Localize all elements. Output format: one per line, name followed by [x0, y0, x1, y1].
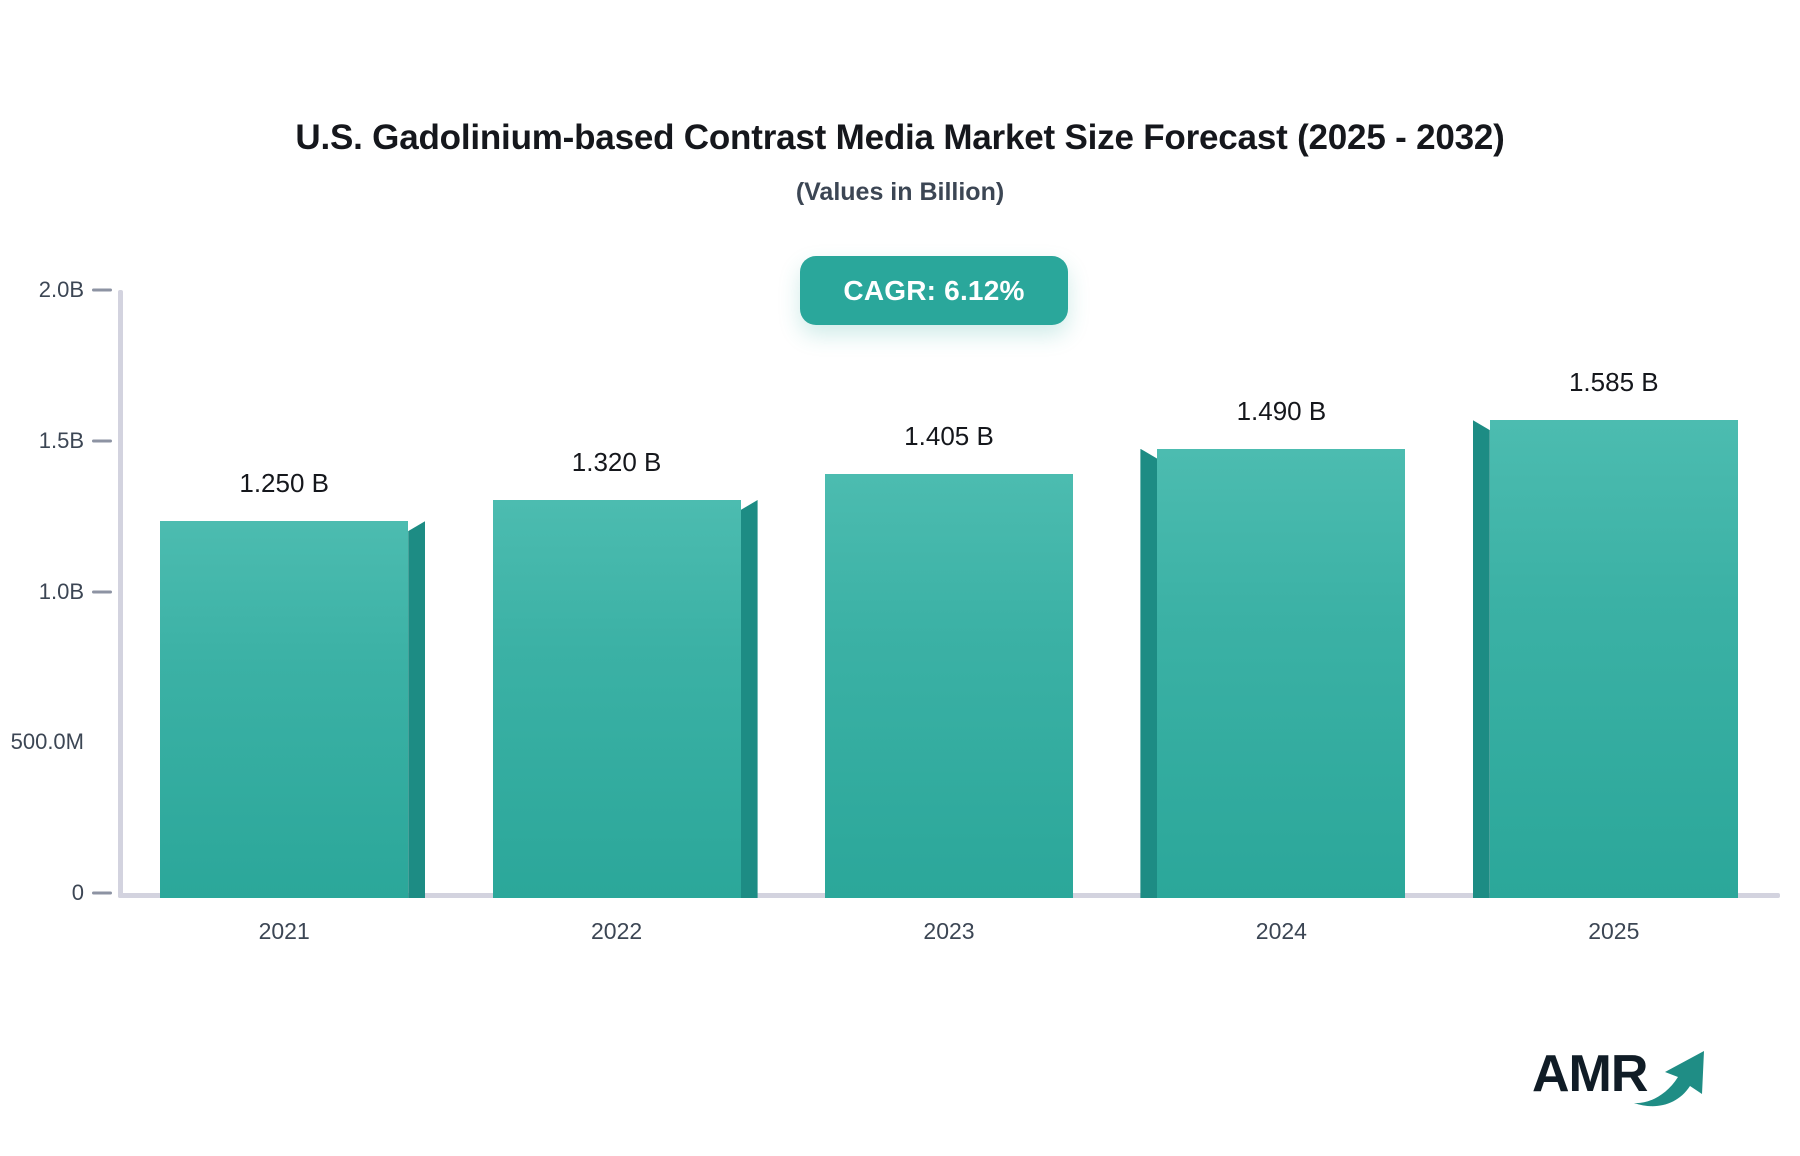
bar-value-label: 1.405 B [789, 421, 1109, 452]
bar-face [160, 521, 408, 898]
bar-face [1490, 420, 1738, 898]
x-axis-tick-label-2024: 2024 [1121, 918, 1441, 945]
bar-value-label: 1.320 B [457, 447, 777, 478]
bar-face [1157, 449, 1405, 898]
bar-2022[interactable] [493, 500, 741, 898]
y-axis-tick-label: 2.0B [0, 277, 84, 303]
y-axis-tick-mark [92, 289, 112, 292]
bar-side-panel [1473, 420, 1490, 898]
page-title: U.S. Gadolinium-based Contrast Media Mar… [0, 118, 1800, 158]
x-axis-tick-label-2023: 2023 [789, 918, 1109, 945]
bar-2025[interactable] [1490, 420, 1738, 898]
y-axis-tick-mark [92, 590, 112, 593]
bar-face [493, 500, 741, 898]
trend-up-arrow-icon [1632, 1046, 1712, 1108]
bar-side-panel [741, 500, 758, 898]
y-axis-tick-label: 1.5B [0, 428, 84, 454]
y-axis-tick-label: 0 [0, 880, 84, 906]
chart-subtitle: (Values in Billion) [0, 178, 1800, 207]
x-axis-tick-label-2021: 2021 [124, 918, 444, 945]
x-axis-tick-label-2022: 2022 [457, 918, 777, 945]
bar-face [825, 474, 1073, 898]
amr-logo: AMR [1532, 1040, 1712, 1112]
y-axis-tick-label: 1.0B [0, 579, 84, 605]
y-axis-tick-mark [92, 439, 112, 442]
y-axis-tick-mark [92, 892, 112, 895]
x-axis-tick-label-2025: 2025 [1454, 918, 1774, 945]
bar-value-label: 1.585 B [1454, 367, 1774, 398]
bar-value-label: 1.250 B [124, 468, 444, 499]
amr-logo-text: AMR [1532, 1044, 1647, 1104]
chart-card: U.S. Gadolinium-based Contrast Media Mar… [0, 0, 1800, 1156]
bar-value-label: 1.490 B [1121, 396, 1441, 427]
bar-side-panel [1140, 449, 1157, 898]
bar-2023[interactable] [825, 474, 1073, 898]
bar-2021[interactable] [160, 521, 408, 898]
bar-2024[interactable] [1157, 449, 1405, 898]
y-axis-tick-label: 500.0M [0, 729, 84, 755]
bar-side-panel [408, 521, 425, 898]
